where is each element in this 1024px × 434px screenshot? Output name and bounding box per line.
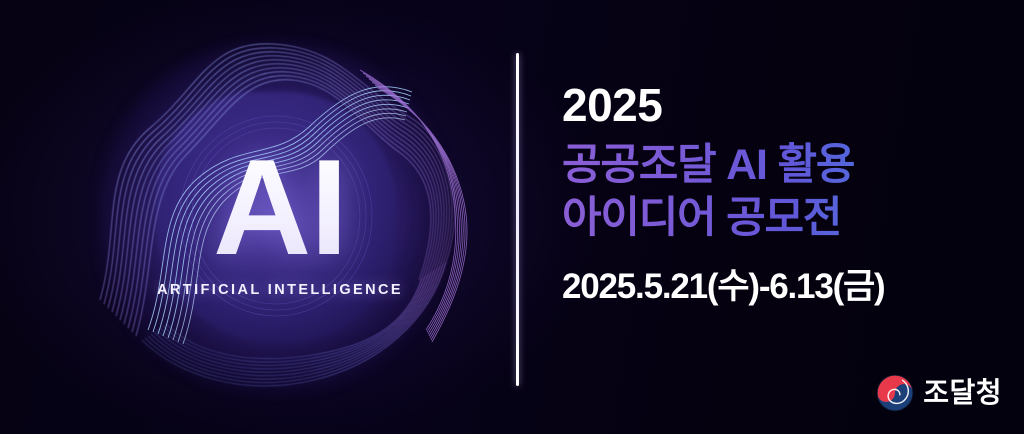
headline-block: 2025 공공조달 AI 활용 아이디어 공모전 2025.5.21(수)-6.… [562,82,982,309]
promo-banner: AI ARTIFICIAL INTELLIGENCE 2025 공공조달 AI … [0,0,1024,434]
event-title-line-1: 공공조달 AI 활용 [562,139,982,192]
event-dates: 2025.5.21(수)-6.13(금) [562,258,982,309]
event-title-line-2: 아이디어 공모전 [562,192,982,245]
ai-wave-pattern-icon [60,0,500,434]
event-title: 공공조달 AI 활용 아이디어 공모전 [562,139,982,246]
event-year: 2025 [562,82,982,128]
organization-logo: 조달청 [876,374,1002,412]
vertical-divider [516,53,519,386]
organization-name: 조달청 [923,379,1002,407]
ai-artwork: AI ARTIFICIAL INTELLIGENCE [60,0,500,434]
taegeuk-icon [876,374,914,412]
